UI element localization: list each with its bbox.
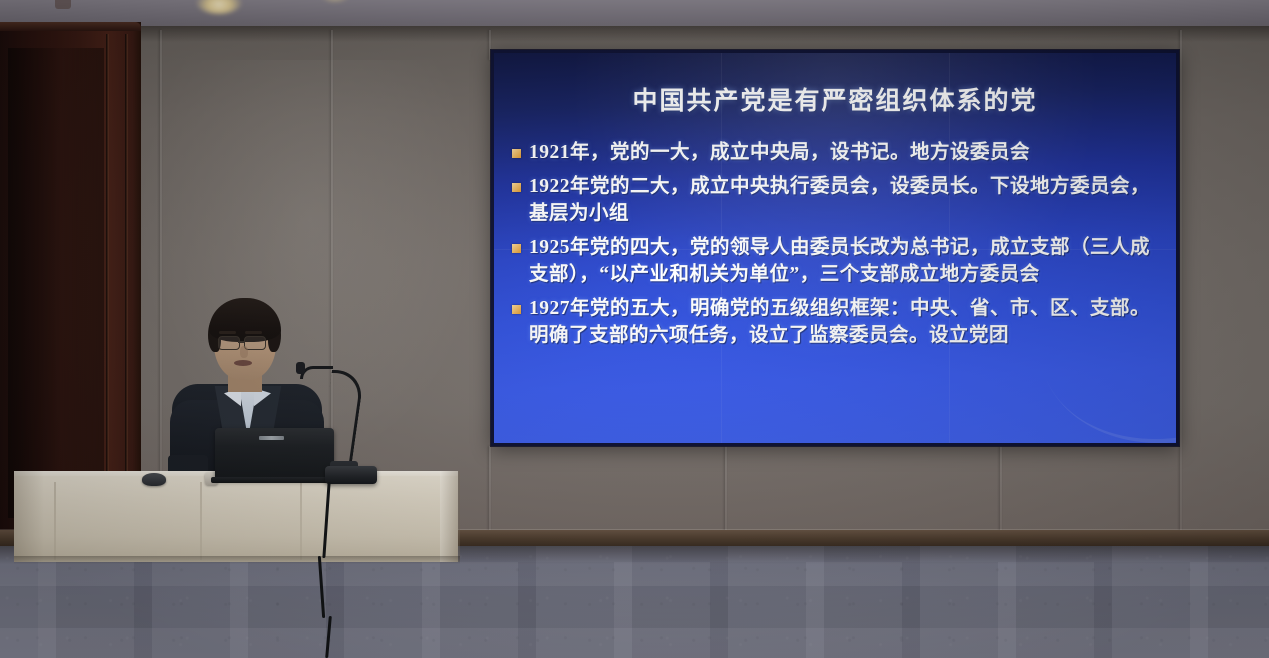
presentation-screen: 中国共产党是有严密组织体系的党 1921年，党的一大，成立中央局，设书记。地方设…: [494, 53, 1176, 443]
door-groove: [125, 34, 128, 534]
glasses-bridge-icon: [238, 341, 245, 343]
table-cloth-fold: [54, 482, 56, 560]
wall-panel-seam: [160, 30, 162, 530]
table-cloth-right-fold: [440, 471, 460, 562]
slide-bullet-list: 1921年，党的一大，成立中央局，设书记。地方设委员会 1922年党的二大，成立…: [508, 139, 1168, 356]
bullet-text: 1921年，党的一大，成立中央局，设书记。地方设委员会: [529, 139, 1168, 166]
table-cloth-fold: [300, 482, 302, 560]
door-groove: [106, 34, 109, 534]
microphone-capsule-icon: [296, 362, 305, 374]
wall-top-shadow: [0, 26, 1269, 42]
bullet-square-icon: [512, 149, 521, 158]
ceiling-fitting: [55, 0, 71, 9]
bullet-square-icon: [512, 305, 521, 314]
table-shadow: [14, 556, 460, 564]
computer-mouse: [142, 473, 166, 486]
bullet-square-icon: [512, 183, 521, 192]
table-cloth: [14, 476, 458, 562]
list-item: 1922年党的二大，成立中央执行委员会，设委员长。下设地方委员会，基层为小组: [508, 173, 1168, 227]
bullet-square-icon: [512, 244, 521, 253]
table-cloth-left-fold: [14, 471, 44, 562]
bullet-text: 1925年党的四大，党的领导人由委员长改为总书记，成立支部（三人成支部），“以产…: [529, 234, 1168, 288]
presenter-eyebrow-right: [245, 331, 262, 334]
wall-panel-seam: [1000, 446, 1002, 536]
list-item: 1925年党的四大，党的领导人由委员长改为总书记，成立支部（三人成支部），“以产…: [508, 234, 1168, 288]
video-frame: 中国共产党是有严密组织体系的党 1921年，党的一大，成立中央局，设书记。地方设…: [0, 0, 1269, 658]
microphone-base: [325, 466, 377, 484]
list-item: 1921年，党的一大，成立中央局，设书记。地方设委员会: [508, 139, 1168, 166]
list-item: 1927年党的五大，明确党的五级组织框架：中央、省、市、区、支部。明确了支部的六…: [508, 295, 1168, 349]
door-header: [0, 22, 141, 31]
table-cloth-fold: [200, 482, 202, 560]
door-panel: [8, 48, 104, 518]
wall-panel-seam: [1180, 30, 1182, 540]
presenter-nose: [240, 346, 248, 358]
bullet-text: 1922年党的二大，成立中央执行委员会，设委员长。下设地方委员会，基层为小组: [529, 173, 1168, 227]
wall-panel-seam: [489, 446, 491, 536]
bullet-text: 1927年党的五大，明确党的五级组织框架：中央、省、市、区、支部。明确了支部的六…: [529, 295, 1168, 349]
laptop-logo: [259, 436, 284, 440]
laptop-base: [211, 477, 339, 483]
glasses-icon: [218, 336, 240, 350]
slide-title: 中国共产党是有严密组织体系的党: [494, 81, 1176, 117]
wall-panel-seam: [725, 446, 727, 536]
presenter-eyebrow-left: [219, 331, 236, 334]
presenter-mouth: [234, 360, 252, 366]
